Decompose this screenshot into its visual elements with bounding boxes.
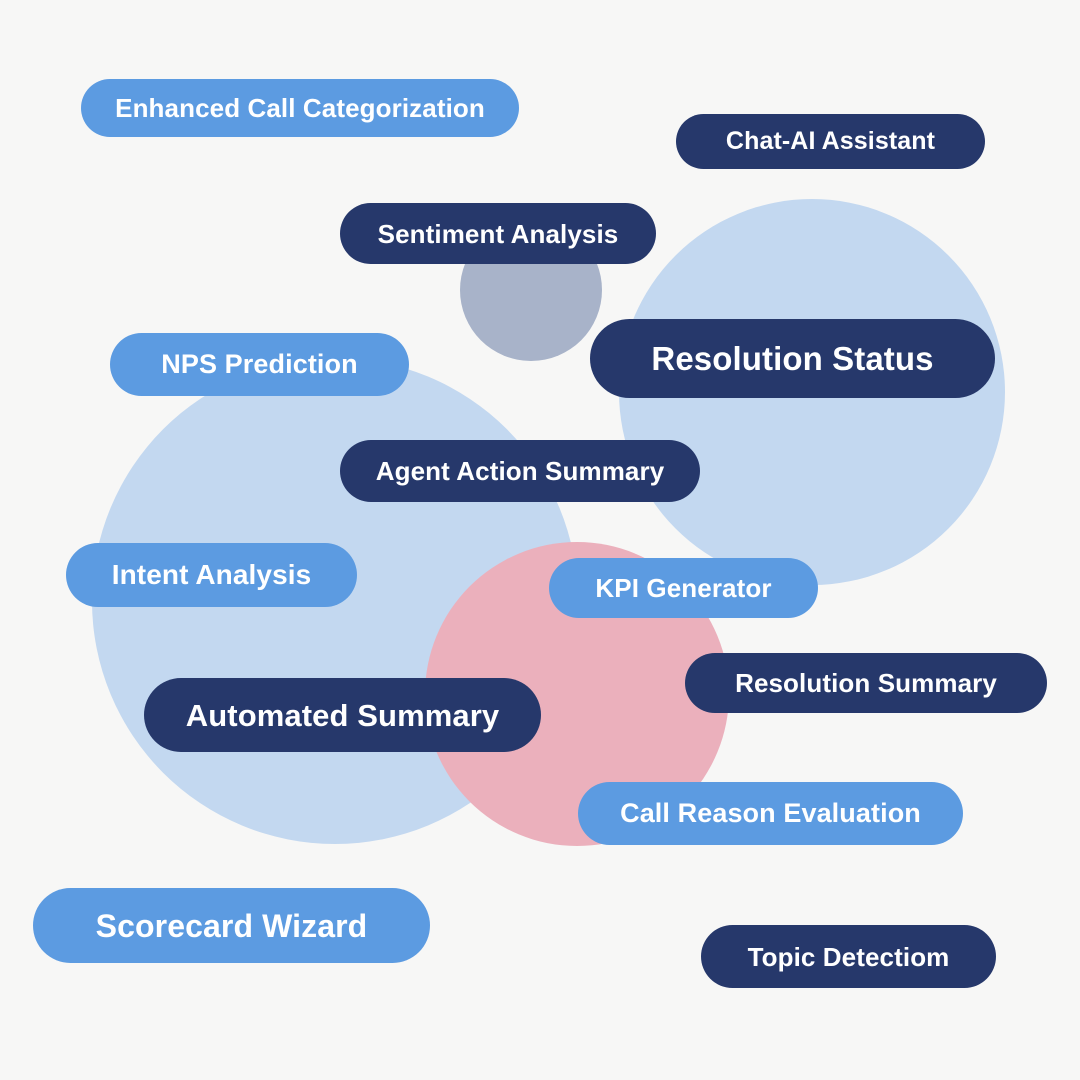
- pill-intent-analysis[interactable]: Intent Analysis: [66, 543, 357, 607]
- pill-chat-ai-assistant[interactable]: Chat-AI Assistant: [676, 114, 985, 169]
- pill-topic-detectiom[interactable]: Topic Detectiom: [701, 925, 996, 988]
- pill-nps-prediction[interactable]: NPS Prediction: [110, 333, 409, 396]
- pill-label: Enhanced Call Categorization: [115, 95, 485, 121]
- word-cloud-canvas: Enhanced Call CategorizationChat-AI Assi…: [0, 0, 1080, 1080]
- pill-label: Topic Detectiom: [748, 944, 950, 970]
- pill-label: Scorecard Wizard: [96, 910, 368, 942]
- pill-agent-action-summary[interactable]: Agent Action Summary: [340, 440, 700, 502]
- pill-automated-summary[interactable]: Automated Summary: [144, 678, 541, 752]
- pill-kpi-generator[interactable]: KPI Generator: [549, 558, 818, 618]
- pill-label: Agent Action Summary: [376, 458, 665, 484]
- pill-label: Intent Analysis: [112, 561, 312, 589]
- pill-call-reason-evaluation[interactable]: Call Reason Evaluation: [578, 782, 963, 845]
- pill-scorecard-wizard[interactable]: Scorecard Wizard: [33, 888, 430, 963]
- pill-enhanced-call-categorization[interactable]: Enhanced Call Categorization: [81, 79, 519, 137]
- pill-label: Chat-AI Assistant: [726, 129, 935, 154]
- pill-label: Call Reason Evaluation: [620, 800, 921, 827]
- pill-resolution-status[interactable]: Resolution Status: [590, 319, 995, 398]
- pill-label: Automated Summary: [186, 700, 500, 731]
- pill-label: Resolution Status: [651, 342, 933, 375]
- pill-label: Resolution Summary: [735, 670, 997, 696]
- pill-label: KPI Generator: [595, 575, 771, 601]
- pill-resolution-summary[interactable]: Resolution Summary: [685, 653, 1047, 713]
- pill-sentiment-analysis[interactable]: Sentiment Analysis: [340, 203, 656, 264]
- pill-label: NPS Prediction: [161, 351, 357, 378]
- pill-label: Sentiment Analysis: [378, 221, 619, 247]
